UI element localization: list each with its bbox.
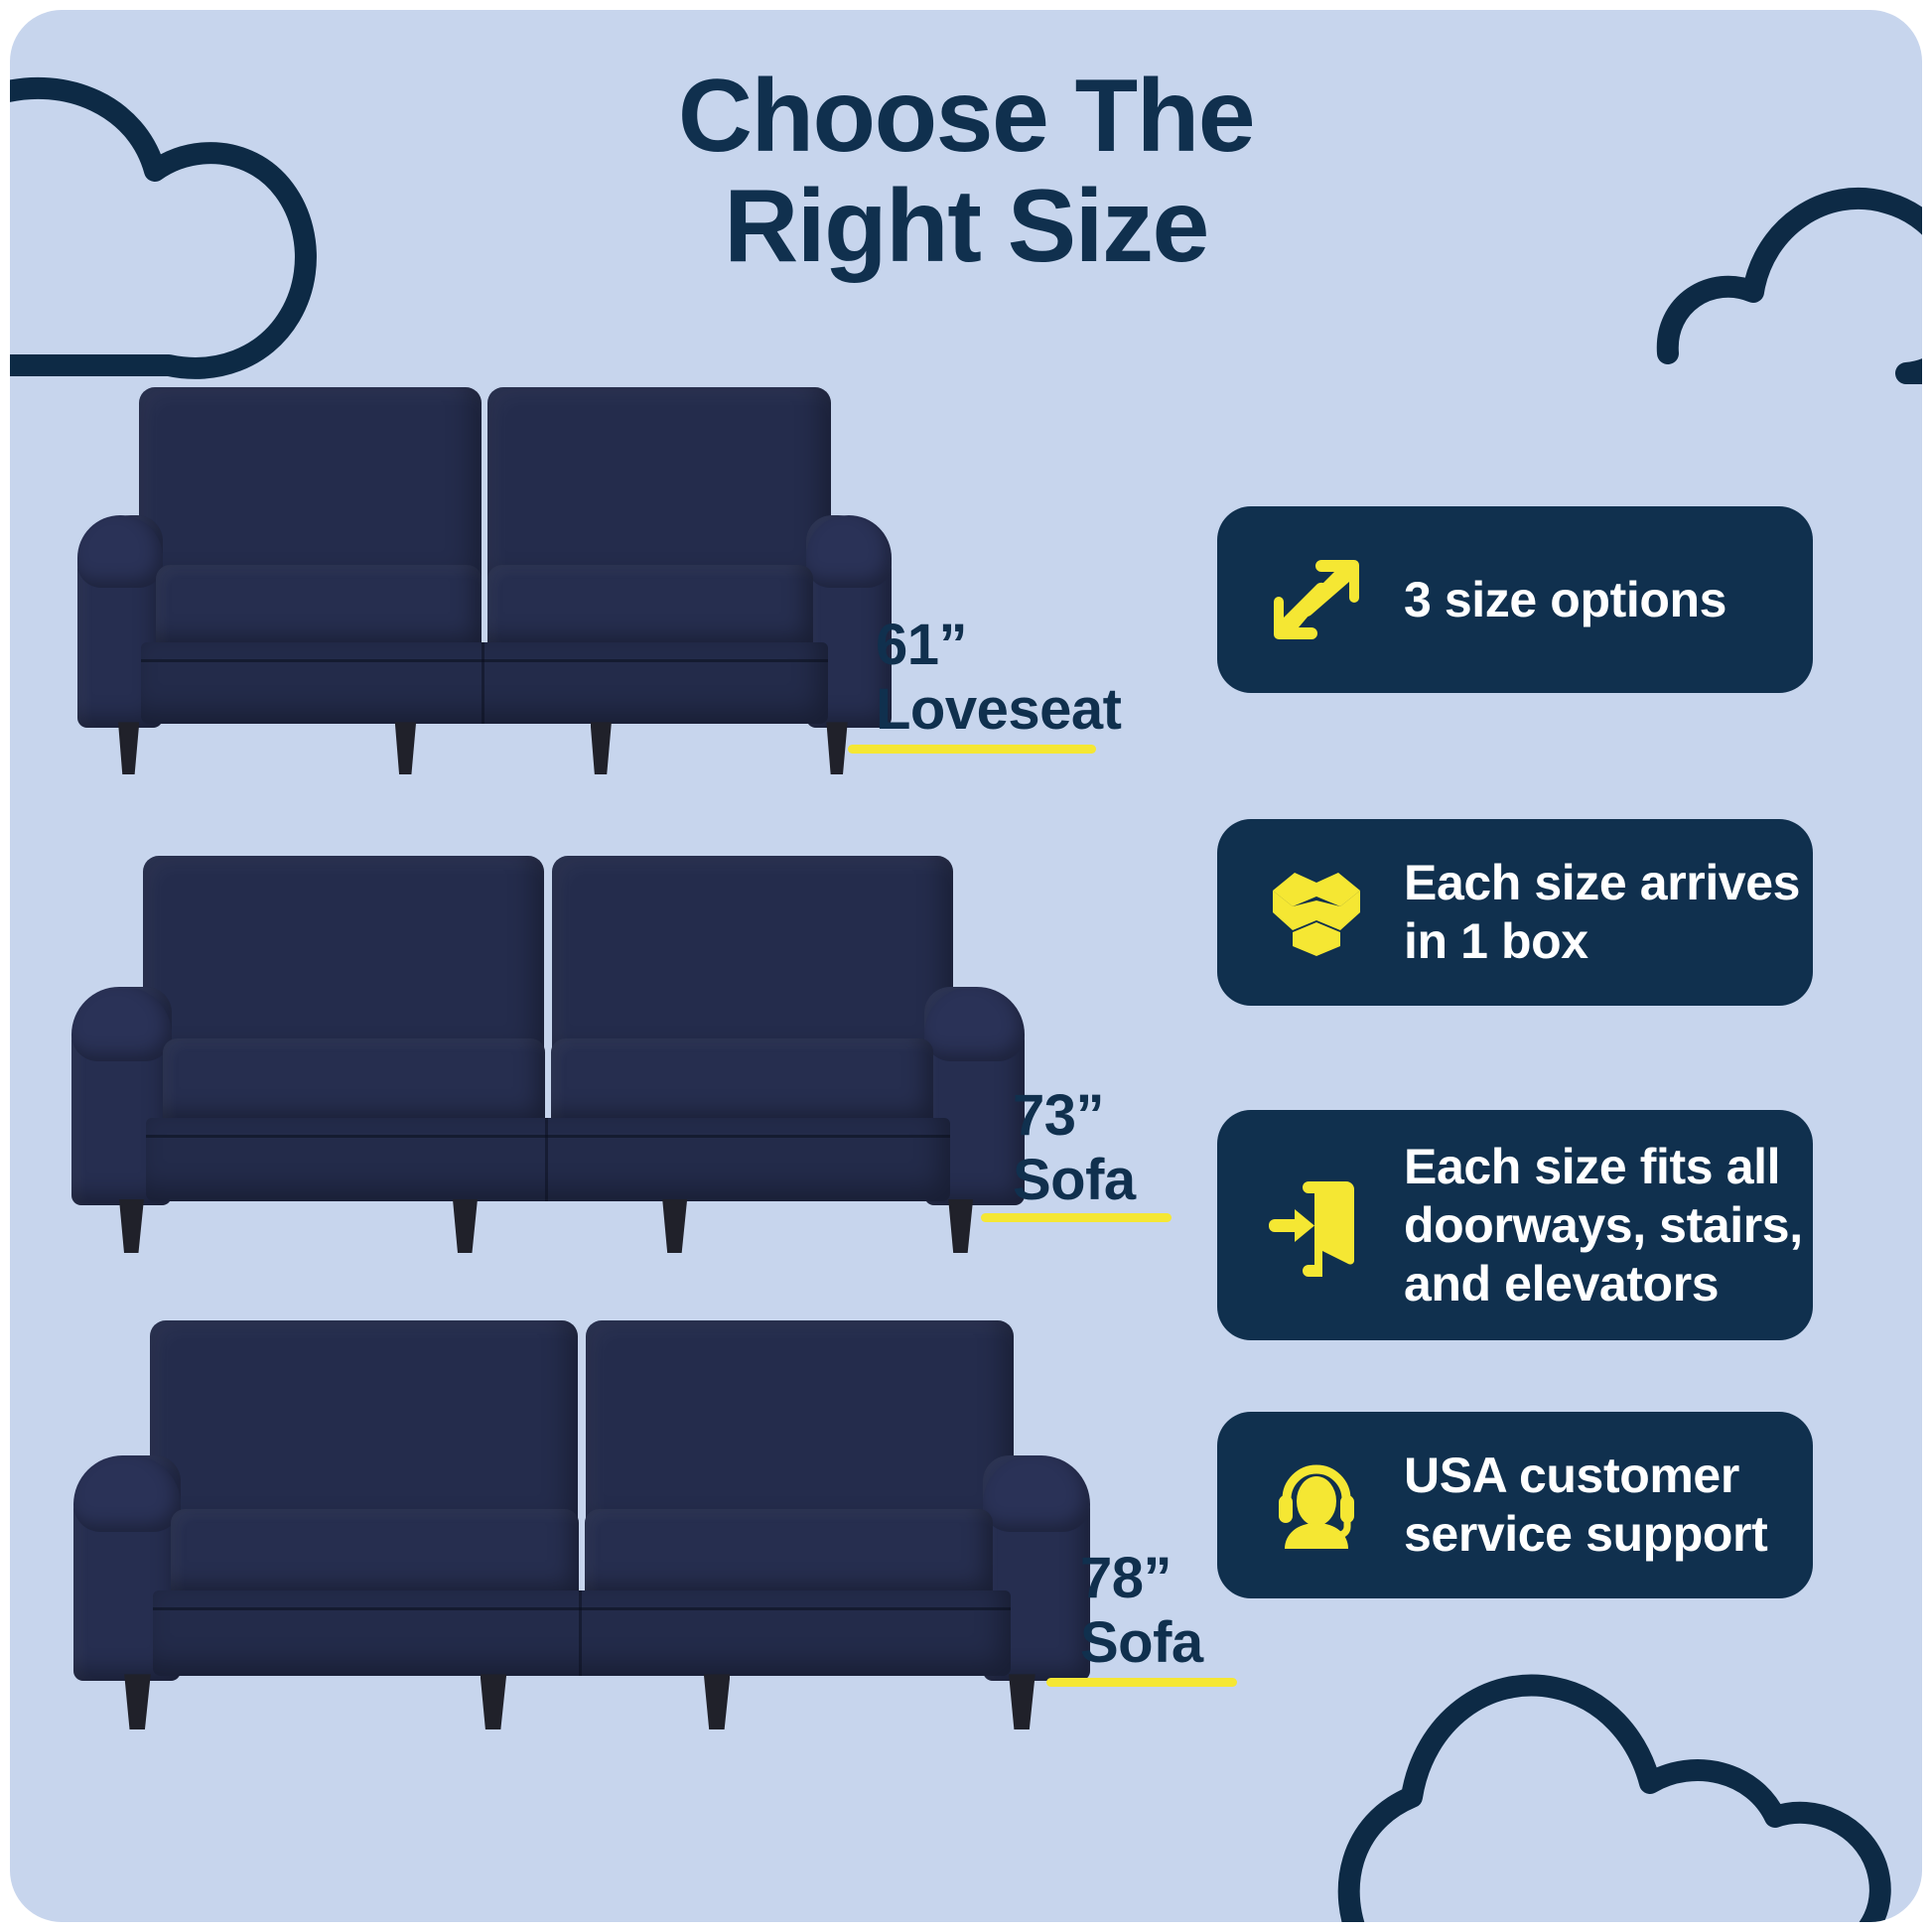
size-type: Sofa bbox=[1013, 1149, 1136, 1213]
sofa-leg bbox=[118, 722, 139, 774]
seat-cushions bbox=[156, 565, 814, 650]
page-title: Choose The Right Size bbox=[10, 62, 1922, 283]
back-cushion bbox=[487, 387, 830, 593]
sofa-leg bbox=[662, 1199, 687, 1253]
feature-text: Each size arrives in 1 box bbox=[1404, 854, 1800, 971]
feature-line: doorways, stairs, bbox=[1404, 1196, 1803, 1255]
size-type: Sofa bbox=[1080, 1611, 1203, 1676]
feature-line: Each size arrives bbox=[1404, 854, 1800, 912]
size-underline-sofa-78 bbox=[1046, 1678, 1237, 1687]
open-box-icon bbox=[1263, 859, 1370, 966]
sofa-illustration-sofa-73 bbox=[71, 856, 1025, 1253]
feature-card-size-options[interactable]: 3 size options bbox=[1217, 506, 1813, 693]
feature-line: service support bbox=[1404, 1505, 1767, 1564]
title-line-1: Choose The bbox=[678, 59, 1254, 174]
sofa-illustration-sofa-78 bbox=[73, 1320, 1090, 1729]
back-cushions bbox=[143, 856, 953, 1066]
size-label-sofa-78: 78” Sofa bbox=[1080, 1547, 1203, 1676]
feature-line: 3 size options bbox=[1404, 571, 1726, 629]
back-cushions bbox=[139, 387, 831, 593]
cloud-bottom-right-icon bbox=[1320, 1618, 1922, 1922]
feature-line: USA customer bbox=[1404, 1447, 1767, 1505]
size-underline-sofa-73 bbox=[981, 1213, 1172, 1222]
back-cushion bbox=[586, 1320, 1014, 1537]
back-cushion bbox=[150, 1320, 578, 1537]
feature-line: Each size fits all bbox=[1404, 1138, 1803, 1196]
infographic-card: Choose The Right Size 61” bbox=[10, 10, 1922, 1922]
feature-card-one-box[interactable]: Each size arrives in 1 box bbox=[1217, 819, 1813, 1006]
sofa-leg bbox=[704, 1674, 731, 1729]
seat-cushions bbox=[171, 1509, 992, 1599]
sofa-leg bbox=[591, 722, 612, 774]
seat-cushion bbox=[171, 1509, 578, 1599]
back-cushion bbox=[143, 856, 544, 1066]
back-cushion bbox=[139, 387, 482, 593]
feature-card-fits-doorways[interactable]: Each size fits all doorways, stairs, and… bbox=[1217, 1110, 1813, 1340]
sofa-illustration-loveseat bbox=[77, 387, 892, 774]
seat-cushions bbox=[163, 1038, 933, 1126]
feature-text: USA customer service support bbox=[1404, 1447, 1767, 1564]
size-type: Loveseat bbox=[876, 678, 1121, 743]
sofa-base bbox=[146, 1118, 950, 1201]
seat-cushion bbox=[551, 1038, 933, 1126]
size-measure: 61” bbox=[876, 614, 1121, 678]
sofa-leg bbox=[124, 1674, 151, 1729]
sofa-base bbox=[153, 1590, 1011, 1677]
seat-cushion bbox=[487, 565, 814, 650]
doorway-arrow-icon bbox=[1263, 1172, 1370, 1279]
feature-line: and elevators bbox=[1404, 1255, 1803, 1313]
size-label-sofa-73: 73” Sofa bbox=[1013, 1084, 1136, 1213]
size-label-loveseat: 61” Loveseat bbox=[876, 614, 1121, 743]
seat-cushion bbox=[585, 1509, 992, 1599]
sofa-leg bbox=[395, 722, 416, 774]
seat-cushion bbox=[163, 1038, 545, 1126]
sofa-base bbox=[141, 642, 828, 724]
sofa-leg bbox=[453, 1199, 478, 1253]
sofa-leg bbox=[826, 722, 847, 774]
back-cushions bbox=[150, 1320, 1014, 1537]
title-line-2: Right Size bbox=[10, 172, 1922, 282]
resize-arrows-icon bbox=[1263, 546, 1370, 653]
size-measure: 78” bbox=[1080, 1547, 1203, 1611]
headset-agent-icon bbox=[1263, 1451, 1370, 1559]
size-measure: 73” bbox=[1013, 1084, 1136, 1149]
size-underline-loveseat bbox=[848, 745, 1096, 754]
sofa-leg bbox=[481, 1674, 507, 1729]
feature-line: in 1 box bbox=[1404, 912, 1800, 971]
sofa-leg bbox=[948, 1199, 973, 1253]
feature-text: 3 size options bbox=[1404, 571, 1726, 629]
back-cushion bbox=[552, 856, 953, 1066]
sofa-leg bbox=[1009, 1674, 1035, 1729]
sofa-leg bbox=[119, 1199, 144, 1253]
feature-card-usa-support[interactable]: USA customer service support bbox=[1217, 1412, 1813, 1598]
feature-text: Each size fits all doorways, stairs, and… bbox=[1404, 1138, 1803, 1313]
seat-cushion bbox=[156, 565, 483, 650]
